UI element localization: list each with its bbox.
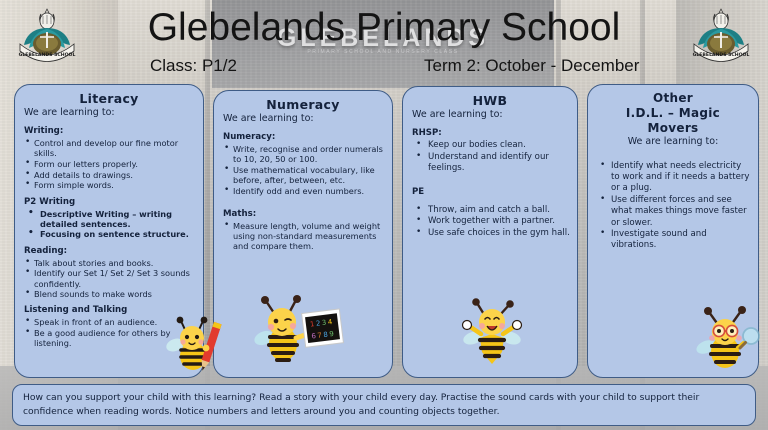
list-item: Write, recognise and order numerals to 1…: [223, 144, 385, 164]
list-item: Focusing on sentence structure.: [24, 229, 196, 239]
bee-with-pencil-icon: [163, 312, 227, 374]
list-item: Use different forces and see what makes …: [597, 195, 751, 229]
other-idl-list: Identify what needs electricity to work …: [597, 161, 751, 252]
panel-other-title-line-1: Other: [595, 91, 751, 105]
list-item: Investigate sound and vibrations.: [597, 229, 751, 251]
list-item: Add details to drawings.: [24, 170, 196, 180]
bee-with-magnifying-glass-icon: [695, 306, 765, 372]
panel-hwb-title: HWB: [410, 93, 570, 108]
bee-cheering-icon: [457, 298, 527, 366]
list-item: Use mathematical vocabulary, like before…: [223, 165, 385, 185]
list-item: Identify our Set 1/ Set 2/ Set 3 sounds …: [24, 268, 196, 288]
literacy-section-heading-p2-writing: P2 Writing: [24, 197, 196, 208]
panel-literacy-title: Literacy: [22, 91, 196, 106]
numeracy-section-heading-maths: Maths:: [223, 209, 385, 220]
numeracy-numeracy-list: Write, recognise and order numerals to 1…: [223, 144, 385, 196]
class-newsletter-poster: GLEBELANDS PRIMARY SCHOOL AND NURSERY CL…: [0, 0, 768, 430]
hwb-pe-list: Throw, aim and catch a ball. Work togeth…: [412, 205, 570, 240]
numeracy-maths-list: Measure length, volume and weight using …: [223, 221, 385, 252]
hwb-rhsp-list: Keep our bodies clean. Understand and id…: [412, 140, 570, 174]
bee-with-number-card-icon: 1 2 3 4 6 7 8 9: [254, 292, 344, 368]
list-item: Blend sounds to make words: [24, 289, 196, 299]
literacy-reading-list: Talk about stories and books. Identify o…: [24, 258, 196, 300]
list-item: Descriptive Writing – writing detailed s…: [24, 209, 196, 229]
panel-numeracy-subtitle: We are learning to:: [221, 113, 385, 125]
panel-other-title-line-3: Movers: [595, 121, 751, 135]
list-item: Identify odd and even numbers.: [223, 186, 385, 196]
list-item: Use safe choices in the gym hall.: [412, 228, 570, 239]
panel-other-subtitle: We are learning to:: [595, 136, 751, 148]
literacy-section-heading-writing: Writing:: [24, 126, 196, 137]
hwb-section-heading-rhsp: RHSP:: [412, 128, 570, 139]
panel-numeracy-title: Numeracy: [221, 97, 385, 112]
literacy-section-heading-reading: Reading:: [24, 246, 196, 257]
panel-literacy-subtitle: We are learning to:: [22, 107, 196, 119]
literacy-writing-list: Control and develop our fine motor skill…: [24, 138, 196, 191]
list-item: Measure length, volume and weight using …: [223, 221, 385, 252]
list-item: Identify what needs electricity to work …: [597, 161, 751, 195]
class-label: Class: P1/2: [150, 56, 237, 76]
list-item: Throw, aim and catch a ball.: [412, 205, 570, 216]
list-item: Understand and identify our feelings.: [412, 152, 570, 174]
svg-text:GLEBELANDS SCHOOL: GLEBELANDS SCHOOL: [19, 52, 76, 58]
parent-support-banner: How can you support your child with this…: [12, 384, 756, 426]
hwb-section-heading-pe: PE: [412, 187, 570, 198]
list-item: Work together with a partner.: [412, 216, 570, 227]
list-item: Form simple words.: [24, 180, 196, 190]
list-item: Control and develop our fine motor skill…: [24, 138, 196, 158]
svg-text:GLEBELANDS SCHOOL: GLEBELANDS SCHOOL: [693, 52, 750, 58]
list-item: Form our letters properly.: [24, 159, 196, 169]
list-item: Keep our bodies clean.: [412, 140, 570, 151]
numeracy-section-heading-numeracy: Numeracy:: [223, 132, 385, 143]
term-label: Term 2: October - December: [424, 56, 639, 76]
panel-hwb-subtitle: We are learning to:: [410, 109, 570, 121]
list-item: Talk about stories and books.: [24, 258, 196, 268]
literacy-p2-writing-list: Descriptive Writing – writing detailed s…: [24, 209, 196, 240]
panel-other-title-line-2: I.D.L. – Magic: [595, 106, 751, 120]
page-title: Glebelands Primary School: [0, 6, 768, 50]
